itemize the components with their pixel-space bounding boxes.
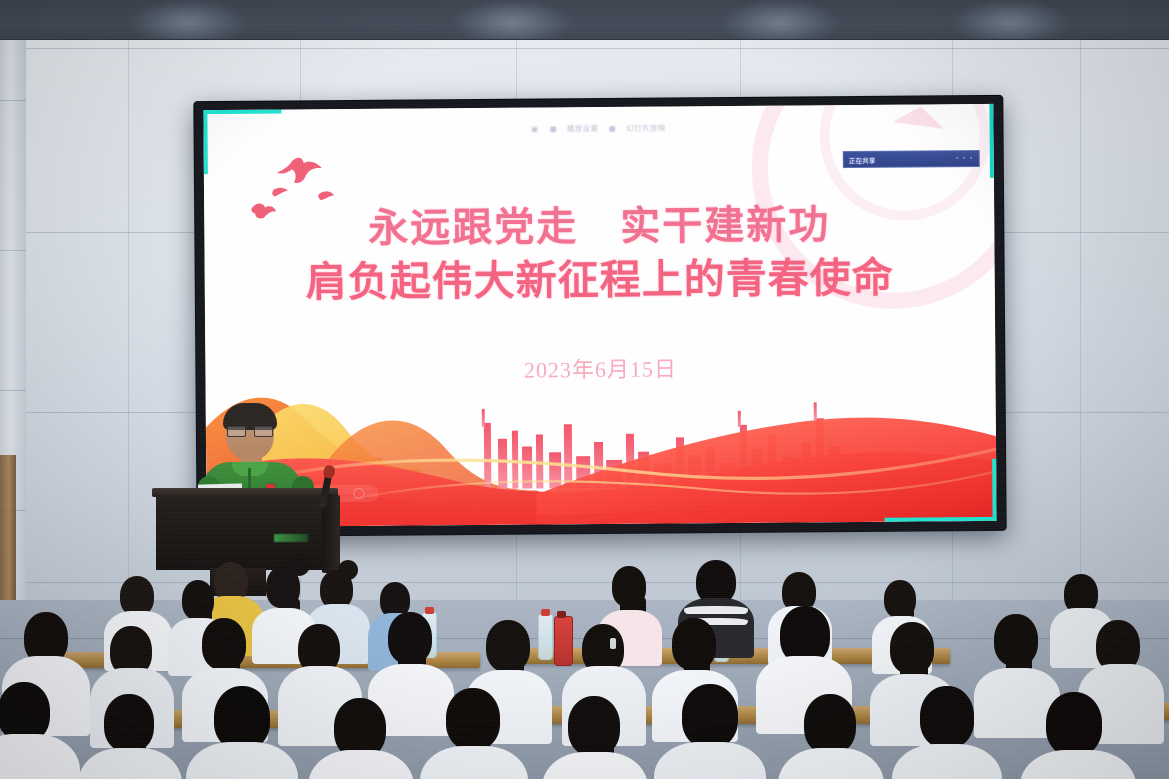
screen-corner-accent [885, 517, 997, 522]
toolbar-dot-icon [609, 125, 615, 131]
thermos-bottle [554, 616, 573, 666]
headline-line-2: 肩负起伟大新征程上的青春使命 [205, 253, 995, 308]
toolbar-item-1[interactable]: ▣ [531, 124, 539, 133]
glasses-icon [227, 426, 273, 435]
headline-line-1: 永远跟党走 实干建新功 [204, 200, 994, 255]
screen-corner-accent [203, 109, 281, 114]
wall-seam [0, 48, 1169, 49]
screen-corner-accent [989, 104, 994, 178]
notification-label: 正在共享 [849, 154, 876, 164]
presentation-slide: ▣ 播放设置 幻灯片放映 正在共享 • • • [203, 104, 996, 527]
slide-headline: 永远跟党走 实干建新功 肩负起伟大新征程上的青春使命 [204, 200, 995, 307]
lectern-logo [274, 534, 308, 542]
toolbar-item-2[interactable]: 播放设置 [567, 123, 599, 134]
water-bottle [538, 614, 553, 660]
toolbar-dot-icon [550, 126, 556, 132]
notification-menu-icon[interactable]: • • • [956, 156, 974, 162]
screenshot-root: ▣ 播放设置 幻灯片放映 正在共享 • • • [0, 0, 1169, 779]
audience [0, 556, 1169, 779]
presentation-toolbar[interactable]: ▣ 播放设置 幻灯片放映 [531, 122, 666, 134]
next-icon[interactable] [353, 488, 364, 499]
led-display[interactable]: ▣ 播放设置 幻灯片放映 正在共享 • • • [194, 96, 1005, 536]
ceiling-soffit [0, 0, 1169, 44]
screen-corner-accent [992, 459, 996, 521]
screen-corner-accent [203, 110, 208, 174]
toolbar-item-3[interactable]: 幻灯片放映 [626, 122, 666, 133]
display-panel: ▣ 播放设置 幻灯片放映 正在共享 • • • [203, 104, 996, 527]
sharing-notification-bar[interactable]: 正在共享 • • • [843, 150, 980, 168]
